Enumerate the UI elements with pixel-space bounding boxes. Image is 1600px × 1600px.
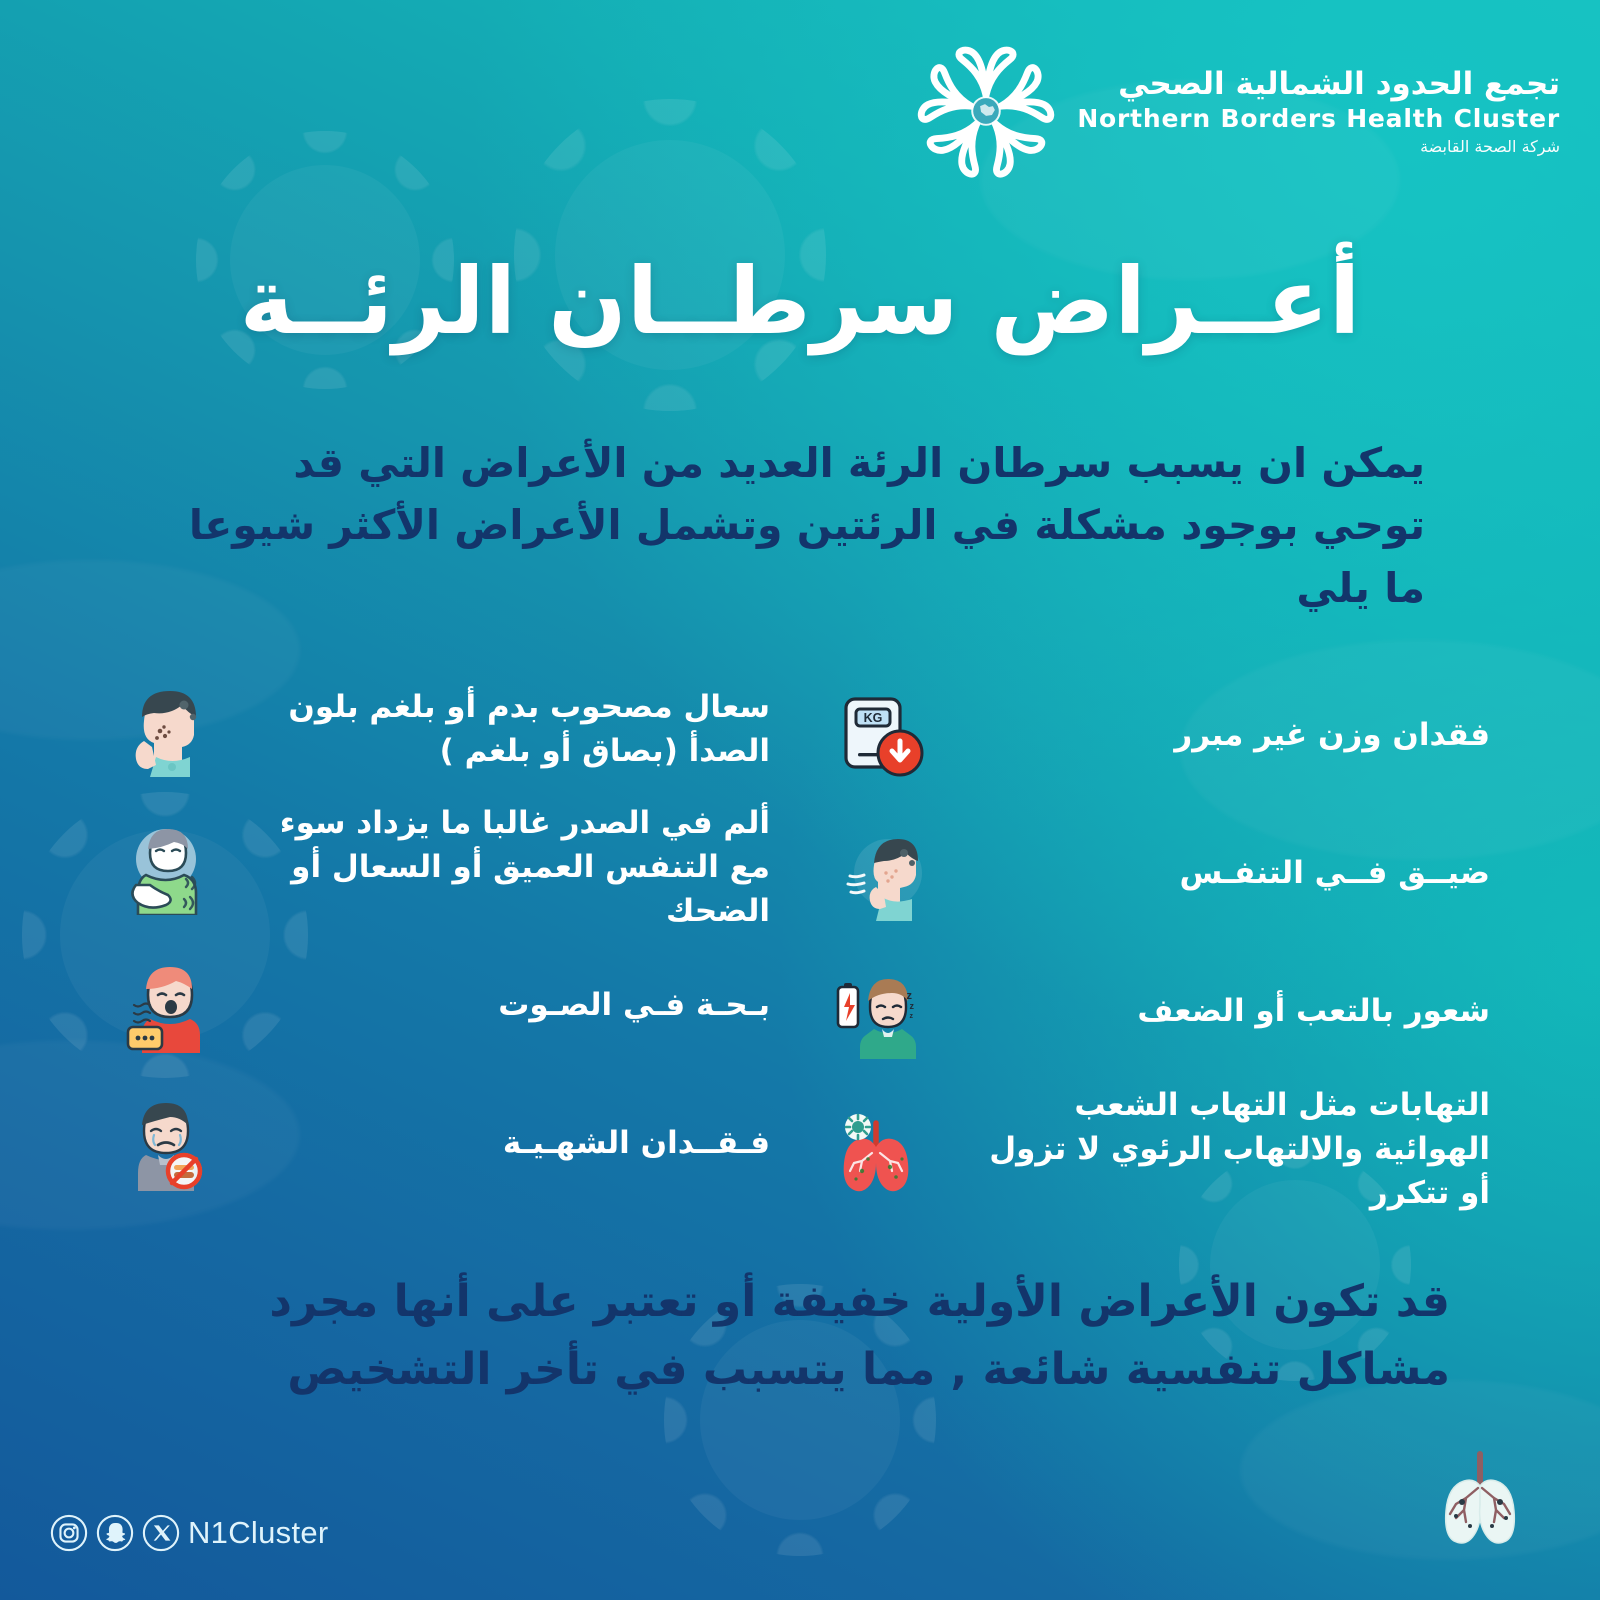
weight-scale-down-arrow-icon: KG [830, 687, 926, 783]
symptoms-column-left: KG فقدان وزن غير مبرر [830, 660, 1490, 1218]
symptom-item: ضيــق فــي التنفـس [830, 804, 1490, 942]
person-shortness-of-breath-icon [830, 825, 926, 921]
symptom-item: سعال مصحوب بدم أو بلغم بلون الصدأ (بصاق … [110, 660, 770, 798]
person-chest-pain-icon [110, 819, 206, 915]
star-flower-logo-icon [917, 42, 1055, 180]
page-title: أعــراض سرطــان الرئــة [0, 248, 1600, 355]
symptom-item: ألم في الصدر غالبا ما يزداد سوء مع التنف… [110, 798, 770, 936]
infected-lungs-icon [830, 1101, 926, 1197]
brand-name-english: Northern Borders Health Cluster [1077, 104, 1560, 134]
social-handle: N1Cluster [188, 1515, 329, 1551]
symptoms-grid: KG فقدان وزن غير مبرر [110, 660, 1490, 1218]
symptom-label: سعال مصحوب بدم أو بلغم بلون الصدأ (بصاق … [230, 685, 770, 773]
symptom-item: z z z شعور بالتعب أو الضعف [830, 942, 1490, 1080]
instagram-icon[interactable] [50, 1514, 88, 1552]
snapchat-icon[interactable] [96, 1514, 134, 1552]
brand-logo-text: تجمع الحدود الشمالية الصحي Northern Bord… [1077, 66, 1560, 157]
person-no-appetite-icon [110, 1095, 206, 1191]
symptom-label: فقدان وزن غير مبرر [950, 713, 1490, 757]
symptom-label: ضيــق فــي التنفـس [950, 851, 1490, 895]
svg-text:z: z [910, 1013, 914, 1020]
poster-canvas: تجمع الحدود الشمالية الصحي Northern Bord… [0, 0, 1600, 1600]
symptom-label: شعور بالتعب أو الضعف [950, 989, 1490, 1033]
symptom-label: فـقــدان الشهـيـة [230, 1121, 770, 1165]
person-coughing-blood-icon [110, 681, 206, 777]
symptom-item: التهابات مثل التهاب الشعب الهوائية والال… [830, 1080, 1490, 1218]
x-twitter-icon[interactable] [142, 1514, 180, 1552]
symptom-item: بـحـة فـي الصـوت [110, 936, 770, 1074]
symptom-label: التهابات مثل التهاب الشعب الهوائية والال… [950, 1083, 1490, 1215]
symptom-item: فـقــدان الشهـيـة [110, 1074, 770, 1212]
symptom-label: بـحـة فـي الصـوت [230, 983, 770, 1027]
lungs-illustration-icon [1420, 1440, 1540, 1560]
svg-text:z: z [910, 1001, 915, 1011]
footer-note: قد تكون الأعراض الأولية خفيفة أو تعتبر ع… [160, 1268, 1450, 1404]
brand-name-arabic: تجمع الحدود الشمالية الصحي [1077, 66, 1560, 103]
person-hoarse-voice-icon [110, 957, 206, 1053]
symptom-label: ألم في الصدر غالبا ما يزداد سوء مع التنف… [230, 801, 770, 933]
svg-text:KG: KG [864, 711, 883, 725]
person-tired-battery-icon: z z z [830, 963, 926, 1059]
page-subtitle: يمكن ان يسبب سرطان الرئة العديد من الأعر… [180, 432, 1425, 619]
symptom-item: KG فقدان وزن غير مبرر [830, 666, 1490, 804]
social-links[interactable]: N1Cluster [50, 1514, 329, 1552]
brand-logo: تجمع الحدود الشمالية الصحي Northern Bord… [917, 42, 1560, 180]
symptoms-column-right: سعال مصحوب بدم أو بلغم بلون الصدأ (بصاق … [110, 660, 770, 1218]
brand-subline: شركة الصحة القابضة [1077, 138, 1560, 157]
